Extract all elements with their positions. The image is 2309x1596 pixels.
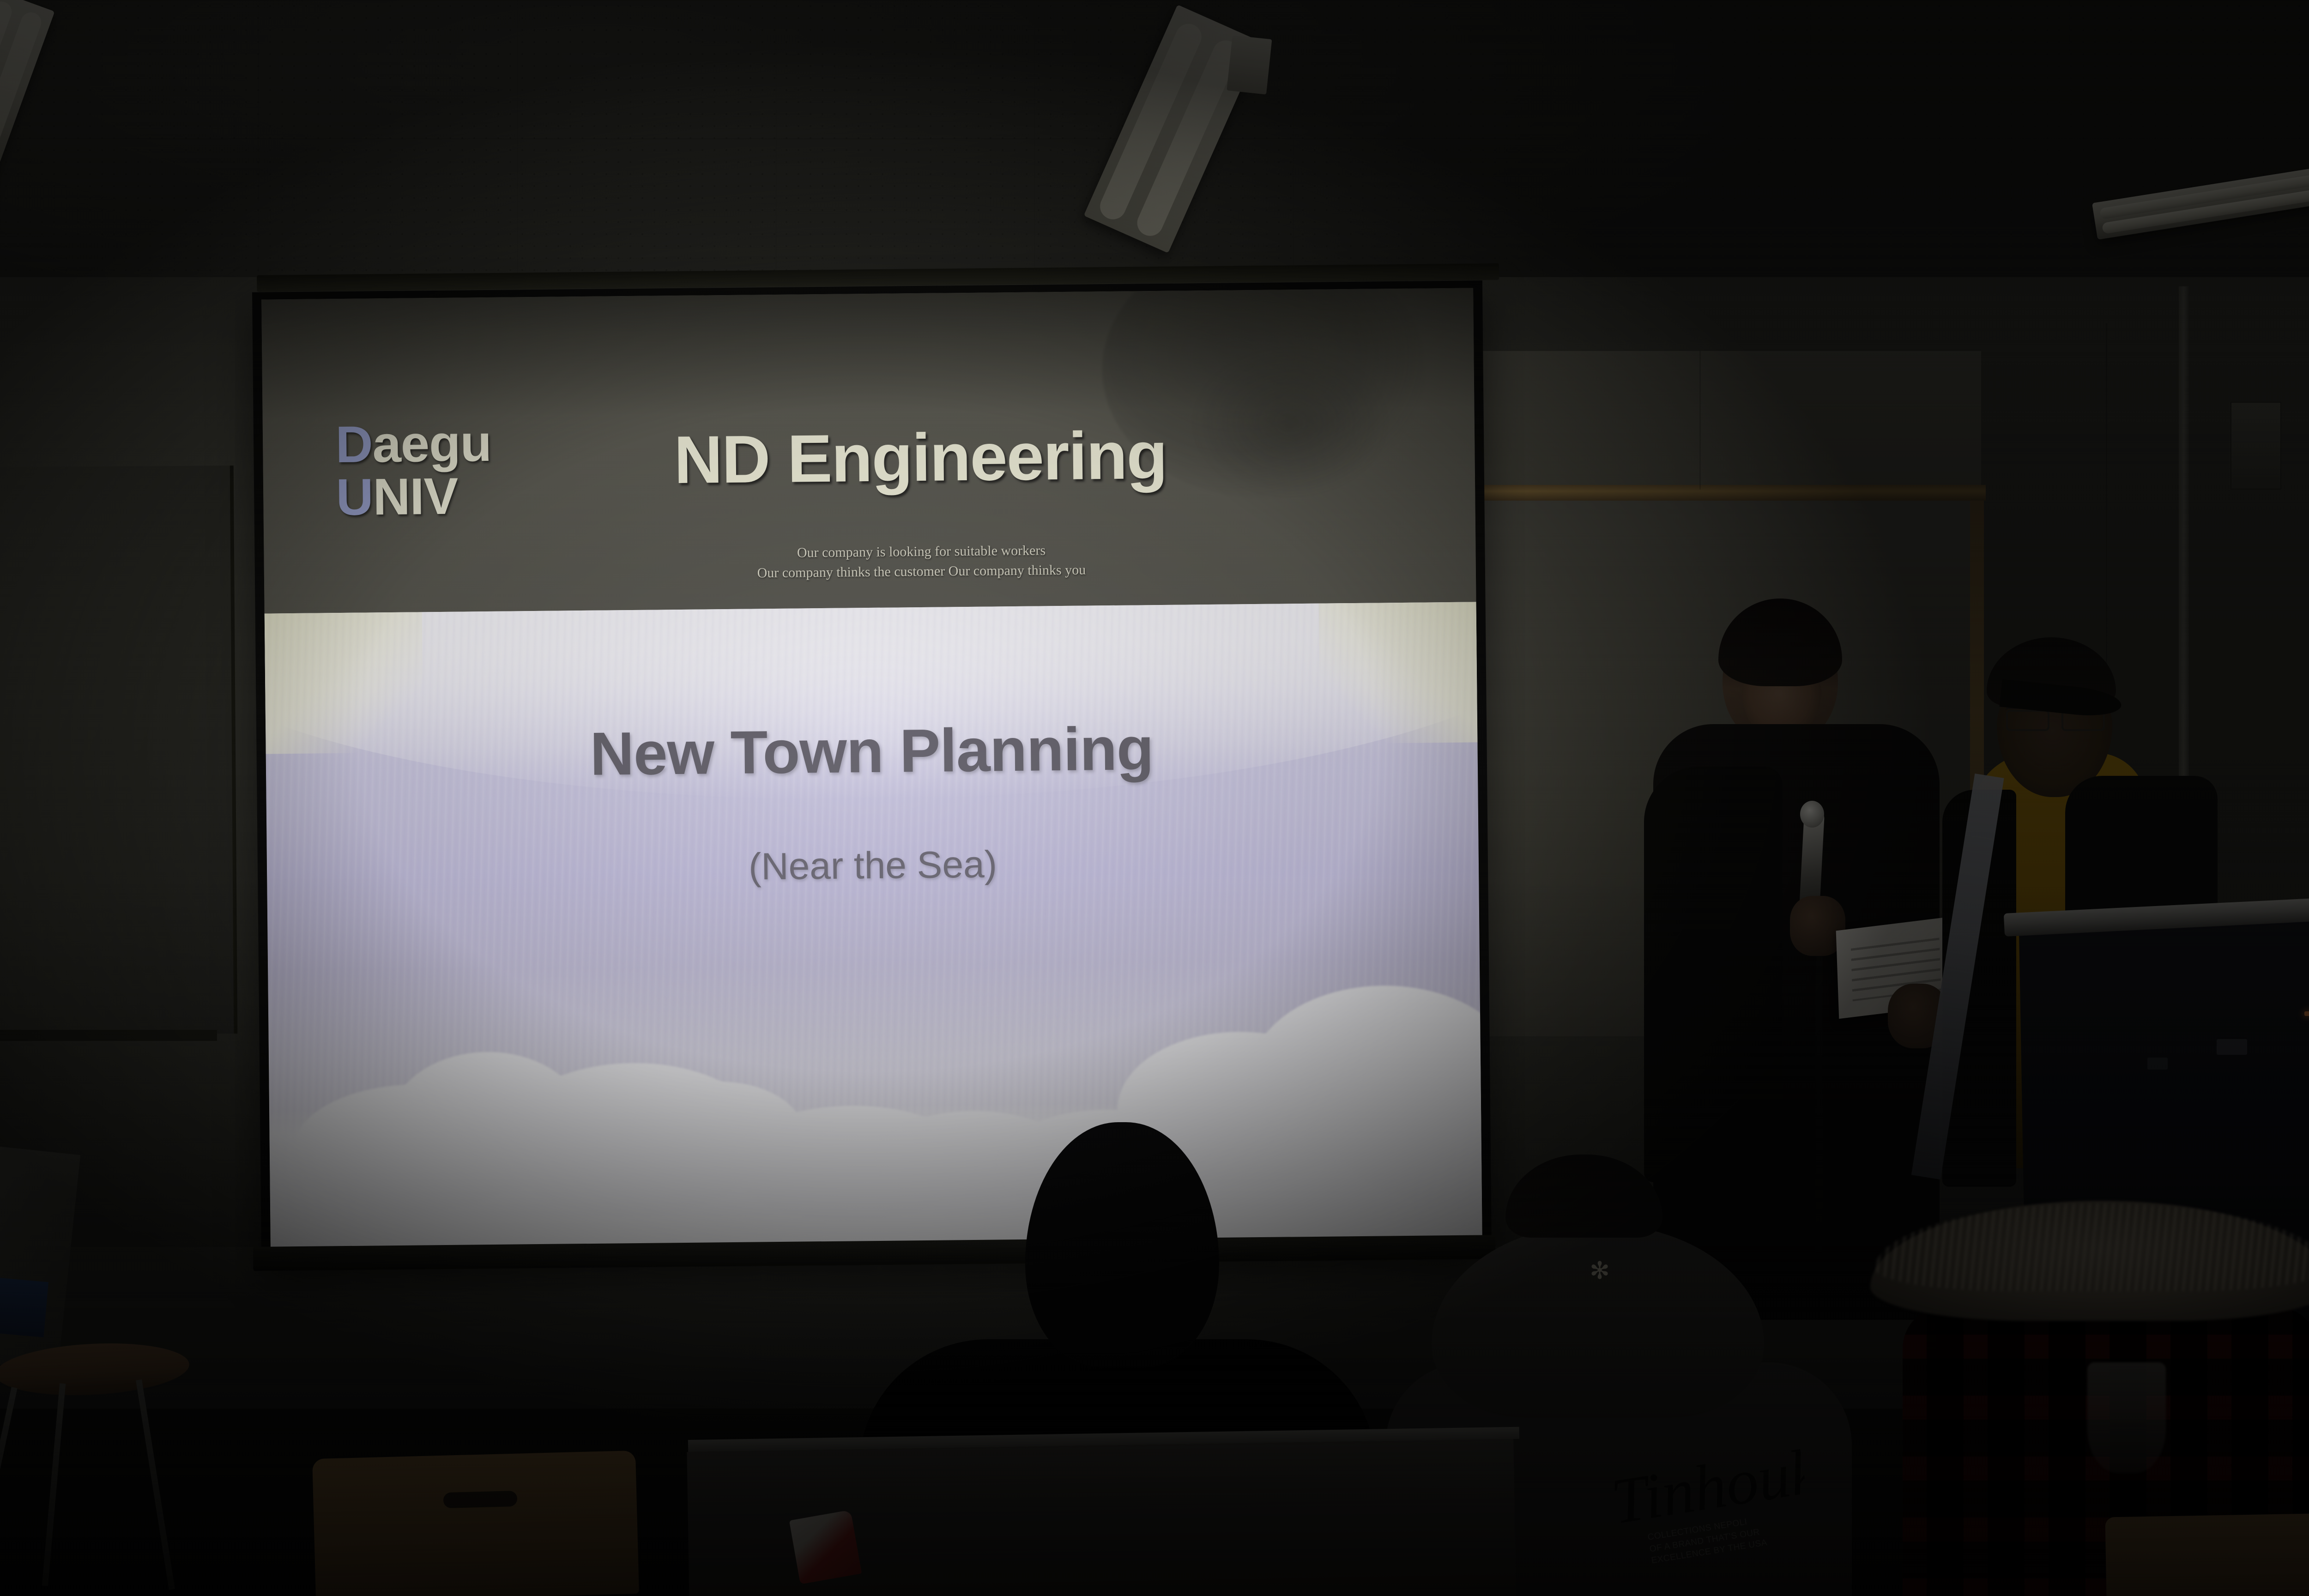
light-end-cap bbox=[1227, 35, 1272, 94]
podium-label-plate bbox=[2217, 1039, 2247, 1055]
presentation-slide: Daegu UNIV ND Engineering Our company is… bbox=[261, 288, 1482, 1251]
whiteboard-left bbox=[0, 465, 237, 1035]
snack-bag bbox=[789, 1510, 862, 1584]
wall-speaker bbox=[2230, 402, 2281, 490]
wall-seam bbox=[1699, 351, 1701, 490]
foreground-viewer-head bbox=[1025, 1122, 1219, 1367]
projection-screen: Daegu UNIV ND Engineering Our company is… bbox=[252, 280, 1492, 1260]
wooden-chair-right bbox=[2105, 1512, 2309, 1596]
podium-power-led bbox=[2304, 1011, 2309, 1016]
classroom-presentation-scene: Daegu UNIV ND Engineering Our company is… bbox=[0, 0, 2309, 1596]
slide-header-band: Daegu UNIV ND Engineering Our company is… bbox=[261, 288, 1476, 614]
microphone-head bbox=[1800, 801, 1824, 828]
wall-panel-upper-right bbox=[1441, 351, 1981, 490]
header-top-shading bbox=[261, 288, 1474, 419]
company-tagline: Our company is looking for suitable work… bbox=[264, 536, 1476, 588]
presenter-left-shoulder bbox=[1644, 767, 1783, 1182]
wooden-chair-back bbox=[312, 1451, 639, 1596]
chair-handle-slot bbox=[443, 1491, 518, 1508]
slide-title: New Town Planning bbox=[266, 711, 1478, 792]
fur-hood-texture bbox=[1875, 1203, 2309, 1291]
hoodie-wearer-cap bbox=[1505, 1155, 1662, 1238]
company-title: ND Engineering bbox=[263, 414, 1475, 503]
presenter-hair bbox=[1718, 598, 1842, 686]
hoodie-hood bbox=[1432, 1224, 1764, 1418]
snowflake-icon: ✻ bbox=[1589, 1261, 1611, 1283]
whiteboard-marker-tray bbox=[0, 1030, 217, 1041]
podium-label-plate-small bbox=[2147, 1058, 2168, 1070]
door-frame-header bbox=[1436, 485, 1986, 501]
parka-back-patch bbox=[2087, 1362, 2166, 1473]
flipchart-blue-sheet bbox=[0, 1276, 48, 1337]
